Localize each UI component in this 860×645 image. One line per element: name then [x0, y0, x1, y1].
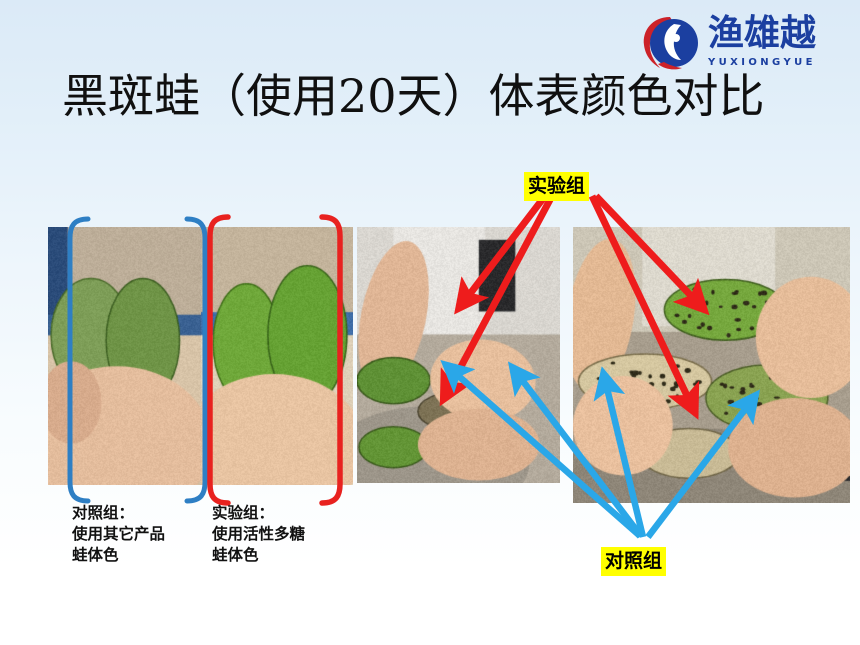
experiment-caption: 实验组： 使用活性多糖 蛙体色 [212, 503, 305, 566]
fish-logo-icon [640, 14, 702, 72]
experiment-group-label: 实验组 [524, 172, 589, 201]
brand-logo: 渔雄越 YUXIONGYUE [640, 12, 852, 74]
slide-canvas: 渔雄越 YUXIONGYUE 黑斑蛙（使用20天）体表颜色对比 [0, 0, 860, 645]
photo-control-frogs [48, 227, 201, 485]
page-title: 黑斑蛙（使用20天）体表颜色对比 [62, 66, 765, 126]
photo-experiment-frogs [201, 227, 353, 485]
control-group-label: 对照组 [601, 547, 666, 576]
brand-wordmark: 渔雄越 [708, 12, 852, 56]
photo-field-comparison-left [357, 227, 560, 483]
control-caption: 对照组： 使用其它产品 蛙体色 [72, 503, 165, 566]
photo-field-comparison-right [573, 227, 850, 503]
